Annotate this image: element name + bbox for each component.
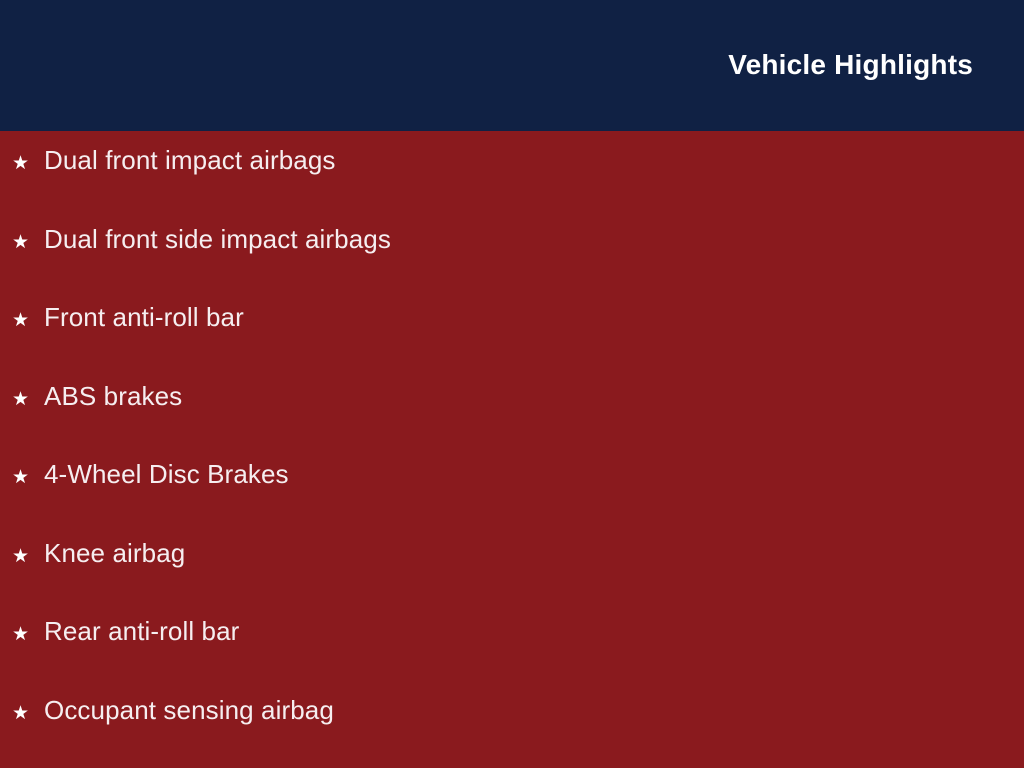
list-item: ★ Dual front side impact airbags <box>0 224 1024 303</box>
star-icon: ★ <box>12 699 44 729</box>
feature-label: Dual front side impact airbags <box>44 224 391 254</box>
list-item: ★ ABS brakes <box>0 381 1024 460</box>
list-item: ★ Knee airbag <box>0 538 1024 617</box>
feature-label: Knee airbag <box>44 538 185 568</box>
star-icon: ★ <box>12 542 44 572</box>
star-icon: ★ <box>12 228 44 258</box>
star-icon: ★ <box>12 463 44 493</box>
feature-label: Front anti-roll bar <box>44 302 244 332</box>
list-item: ★ Occupant sensing airbag <box>0 695 1024 768</box>
list-item: ★ Dual front impact airbags <box>0 145 1024 224</box>
vehicle-feature-list: ★ Dual front impact airbags ★ Dual front… <box>0 131 1024 768</box>
star-icon: ★ <box>12 149 44 179</box>
feature-list-body: ★ Dual front impact airbags ★ Dual front… <box>0 131 1024 768</box>
star-icon: ★ <box>12 385 44 415</box>
header-band: Vehicle Highlights <box>0 0 1024 131</box>
page-title: Vehicle Highlights <box>728 48 973 82</box>
list-item: ★ Front anti-roll bar <box>0 302 1024 381</box>
feature-label: 4-Wheel Disc Brakes <box>44 459 289 489</box>
list-item: ★ 4-Wheel Disc Brakes <box>0 459 1024 538</box>
feature-label: Rear anti-roll bar <box>44 616 239 646</box>
feature-label: Dual front impact airbags <box>44 145 336 175</box>
feature-label: Occupant sensing airbag <box>44 695 334 725</box>
list-item: ★ Rear anti-roll bar <box>0 616 1024 695</box>
vehicle-highlights-slide: Vehicle Highlights ★ Dual front impact a… <box>0 0 1024 768</box>
star-icon: ★ <box>12 620 44 650</box>
star-icon: ★ <box>12 306 44 336</box>
feature-label: ABS brakes <box>44 381 182 411</box>
